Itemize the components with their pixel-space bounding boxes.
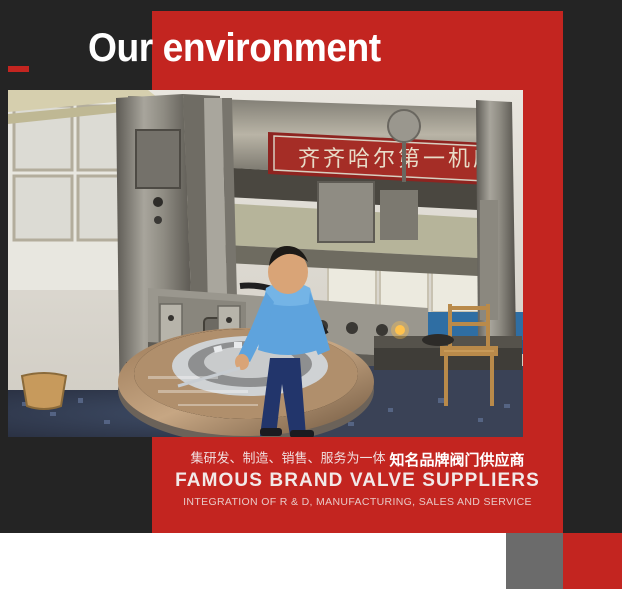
factory-photo: 齐齐哈尔第一机床 — [8, 90, 523, 437]
svg-text:齐齐哈尔第一机床: 齐齐哈尔第一机床 — [298, 147, 498, 172]
page-root: Our environment — [0, 0, 622, 589]
red-dash-accent-icon — [8, 66, 29, 72]
caption-tagline-english: INTEGRATION OF R & D, MANUFACTURING, SAL… — [152, 495, 563, 509]
caption-headline-english: FAMOUS BRAND VALVE SUPPLIERS — [152, 470, 563, 492]
caption-chinese-big: 知名品牌阀门供应商 — [390, 451, 525, 469]
caption-chinese-small: 集研发、制造、销售、服务为一体 — [190, 452, 385, 467]
footer-red-block — [563, 533, 622, 589]
page-title: Our environment — [88, 26, 381, 70]
footer-gray-block — [506, 533, 563, 589]
factory-photo-illustration: 齐齐哈尔第一机床 — [8, 90, 523, 437]
caption-line-chinese: 集研发、制造、销售、服务为一体知名品牌阀门供应商 — [152, 449, 563, 469]
caption-block: 集研发、制造、销售、服务为一体知名品牌阀门供应商 FAMOUS BRAND VA… — [152, 449, 563, 519]
